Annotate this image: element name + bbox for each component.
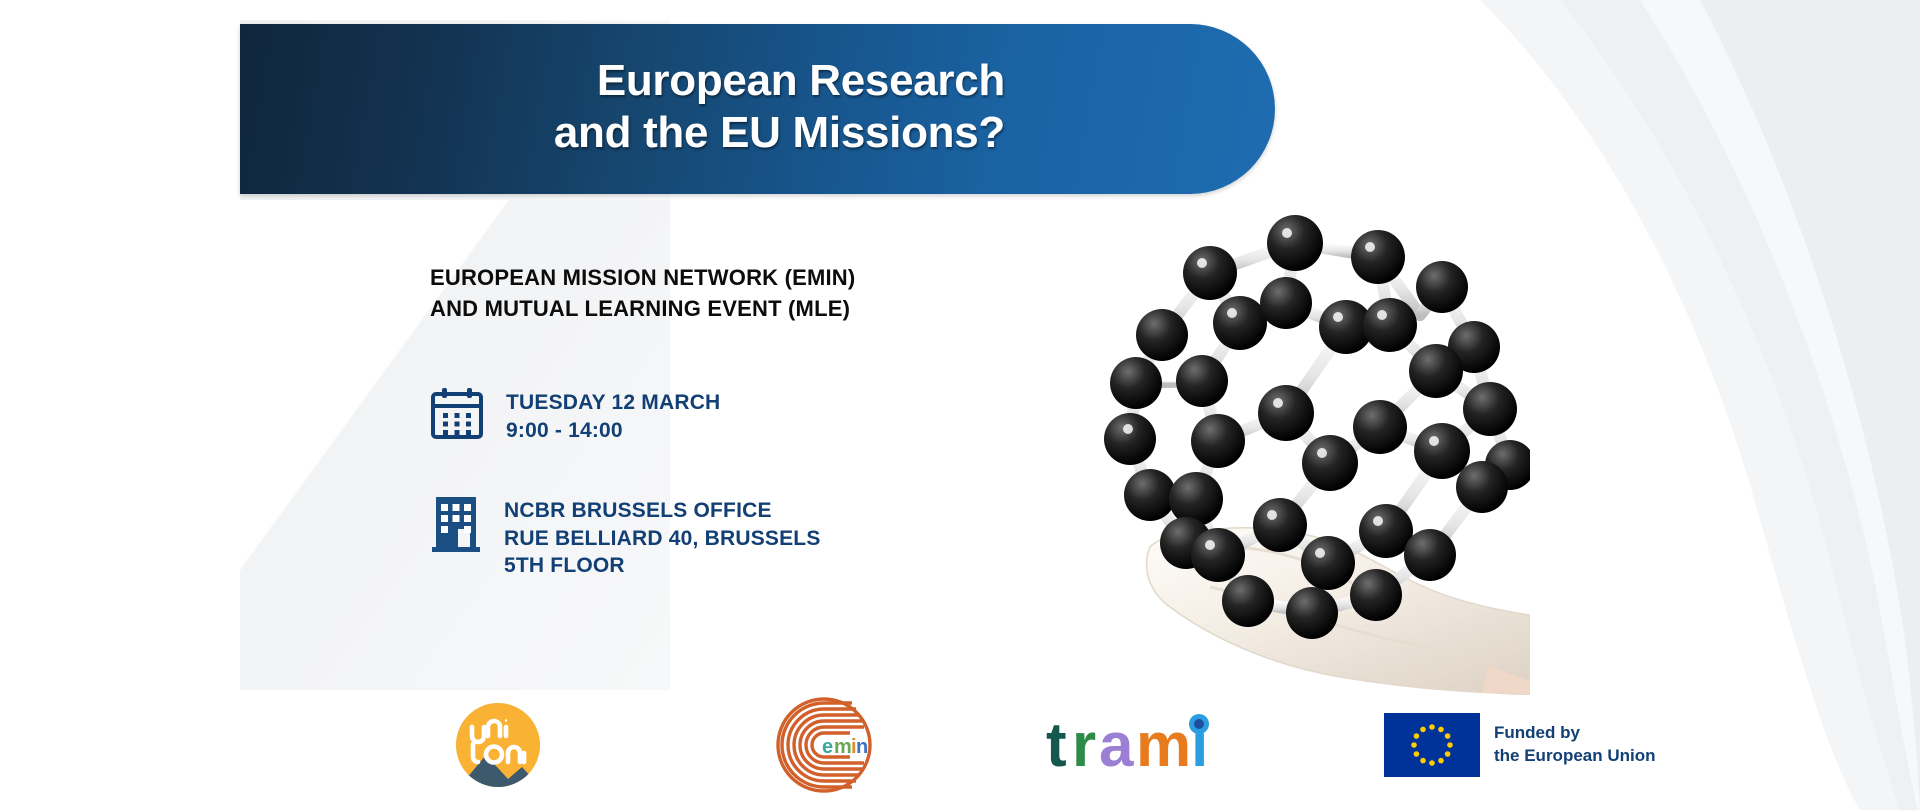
event-date-text: TUESDAY 12 MARCH 9:00 - 14:00 [506,386,720,444]
svg-text:e: e [822,736,833,758]
eu-funding-line-2: the European Union [1494,745,1656,768]
svg-text:m: m [834,736,852,758]
event-venue-line-2: RUE BELLIARD 40, BRUSSELS [504,525,821,553]
eu-funding-logo[interactable]: Funded by the European Union [1384,713,1656,777]
title-banner: European Research and the EU Missions? [240,24,1275,194]
emin-logo[interactable]: e m i n [774,695,874,795]
eu-funding-text: Funded by the European Union [1494,722,1656,768]
calendar-icon [430,386,484,440]
event-date-day: TUESDAY 12 MARCH [506,389,720,417]
eu-funding-line-1: Funded by [1494,722,1656,745]
svg-text:m: m [1136,711,1191,780]
event-subtitle-line-2: AND MUTUAL LEARNING EVENT (MLE) [430,293,990,324]
event-venue-text: NCBR BRUSSELS OFFICE RUE BELLIARD 40, BR… [504,491,821,580]
event-details-column: EUROPEAN MISSION NETWORK (EMIN) AND MUTU… [430,262,990,580]
eu-flag-icon [1384,713,1480,777]
fullerene-molecule-image [1090,195,1530,695]
svg-text:a: a [1099,711,1134,780]
event-date-time: 9:00 - 14:00 [506,417,720,445]
event-subtitle: EUROPEAN MISSION NETWORK (EMIN) AND MUTU… [430,262,990,324]
svg-text:r: r [1072,711,1096,780]
page-title-line-1: European Research [597,55,1005,107]
svg-text:t: t [1046,711,1067,780]
event-venue-line-1: NCBR BRUSSELS OFFICE [504,497,821,525]
event-subtitle-line-1: EUROPEAN MISSION NETWORK (EMIN) [430,262,990,293]
event-venue-line-3: 5TH FLOOR [504,552,821,580]
svg-text:n: n [856,736,868,758]
event-date-row: TUESDAY 12 MARCH 9:00 - 14:00 [430,386,990,444]
page-title-line-2: and the EU Missions? [554,107,1005,159]
event-banner: European Research and the EU Missions? E… [0,0,1920,810]
event-venue-row: NCBR BRUSSELS OFFICE RUE BELLIARD 40, BR… [430,491,990,580]
partner-logo-strip: e m i n t r a m ı [380,690,1610,800]
building-icon [430,491,482,553]
trami-logo[interactable]: t r a m ı [1044,708,1224,782]
unilion-logo[interactable] [452,699,544,791]
